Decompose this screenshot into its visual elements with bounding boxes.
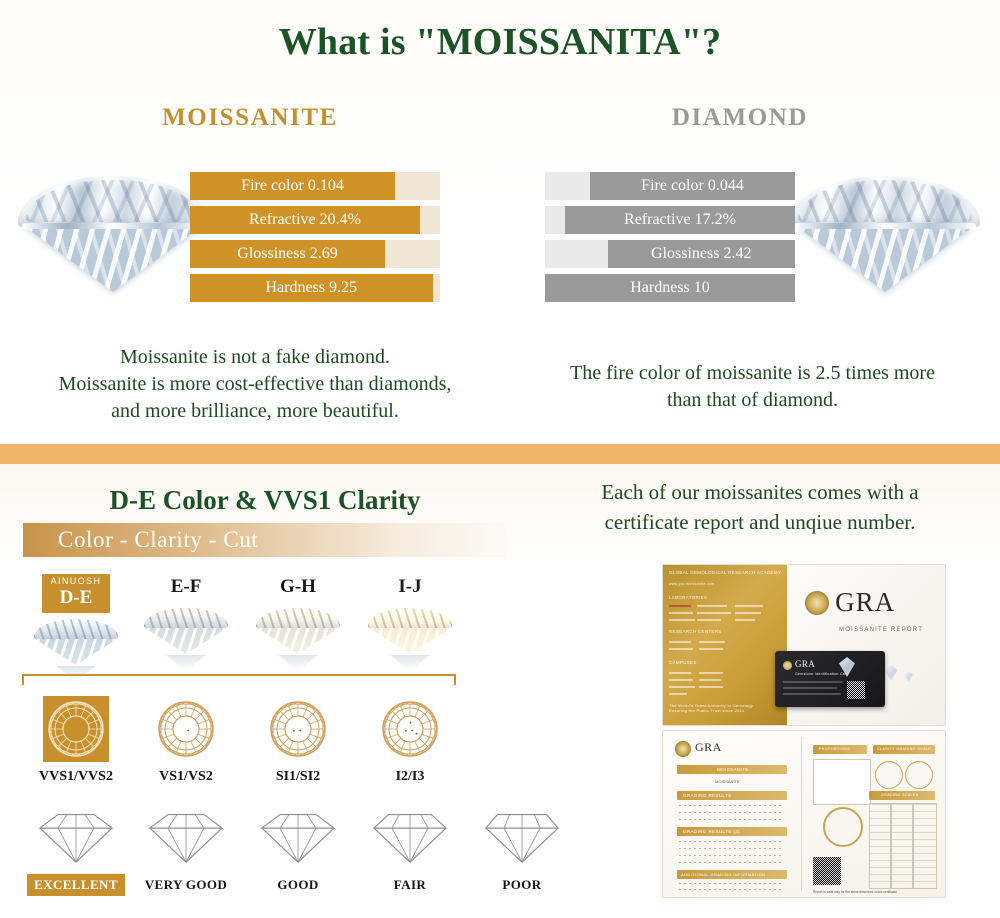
diamond-column-heading: DIAMOND xyxy=(530,104,950,132)
report-subtitle: MOISSANITE xyxy=(715,779,740,784)
grade-bar: Color - Clarity - Cut xyxy=(23,523,507,557)
report-data-row xyxy=(679,841,783,842)
certificate-entry-line xyxy=(699,672,723,674)
page-title: What is "MOISSANITA"? xyxy=(0,20,1000,64)
color-grade-cell[interactable]: E-F xyxy=(130,574,242,671)
color-grade-row: AINUOSHD-EE-FG-HI-J xyxy=(20,574,470,676)
moissanite-caption: Moissanite is not a fake diamond.Moissan… xyxy=(0,344,510,425)
comparison-section: What is "MOISSANITA"? MOISSANITE DIAMOND… xyxy=(0,0,1000,444)
diamond-icon xyxy=(256,608,340,654)
clarity-diagram-circle xyxy=(875,761,903,789)
report-data-row xyxy=(679,812,783,813)
property-bar-track: Refractive 20.4% xyxy=(190,206,440,234)
property-bar-track: Fire color 0.044 xyxy=(545,172,795,200)
color-grade-label: G-H xyxy=(280,576,316,598)
diamond-reflection xyxy=(379,655,441,671)
report-data-row xyxy=(679,805,783,806)
qr-code xyxy=(813,857,841,885)
color-scale-baseline xyxy=(22,674,456,685)
color-grade-tag: AINUOSHD-E xyxy=(42,574,111,613)
property-bar-fill: Refractive 17.2% xyxy=(565,206,795,234)
certificate-footer: The World's Great Authority in GemologyE… xyxy=(669,703,753,713)
color-grade-tag: E-F xyxy=(162,574,211,602)
cut-grade-label: FAIR xyxy=(387,874,433,896)
cut-grade-label: POOR xyxy=(495,874,548,896)
report-section-band: GRADING RESULTS xyxy=(677,791,787,800)
gra-logo: GRA xyxy=(835,587,895,618)
color-grade-cell[interactable]: AINUOSHD-E xyxy=(20,574,132,682)
certificate-website-line: www.gra-moissanite.com xyxy=(669,582,715,586)
certificate-entry-line xyxy=(669,686,695,688)
moissanite-property-bars: Fire color 0.104Refractive 20.4%Glossine… xyxy=(190,172,440,304)
grading-title: D-E Color & VVS1 Clarity xyxy=(25,485,505,516)
clarity-diamond-icon xyxy=(43,696,109,762)
grading-scale-table xyxy=(869,803,891,889)
certificate-entry-line xyxy=(669,641,691,643)
cut-diamond-icon xyxy=(20,809,132,870)
card-line xyxy=(783,681,843,683)
certificate-entry-line xyxy=(697,605,727,607)
gem-illustration xyxy=(903,671,914,682)
gra-certificate-cover-image: GLOBAL GEMOLOGICAL RESEARCH ACADEMY www.… xyxy=(662,564,946,726)
report-data-row xyxy=(679,819,783,820)
certificate-caption: Each of our moissanites comes with acert… xyxy=(530,477,990,537)
clarity-diamond-icon xyxy=(377,696,443,762)
property-bar-track: Glossiness 2.69 xyxy=(190,240,440,268)
clarity-grade-label: VS1/VS2 xyxy=(130,769,242,785)
qr-code xyxy=(847,681,865,699)
property-bar-fill: Refractive 20.4% xyxy=(190,206,420,234)
diamond-gem-image xyxy=(790,170,980,302)
card-subtitle: Gemstone Identification Card xyxy=(795,672,849,676)
clarity-grade-label: I2/I3 xyxy=(354,769,466,785)
certificate-entry-line xyxy=(735,612,761,614)
report-right-band: PROPORTIONS xyxy=(813,745,867,754)
report-section-band: ADDITIONAL GRADING INFORMATION xyxy=(677,870,787,879)
clarity-grade-cell[interactable]: SI1/SI2 xyxy=(242,696,354,785)
cut-diamond-icon xyxy=(466,809,578,870)
report-data-row xyxy=(679,848,783,849)
diamond-icon xyxy=(368,608,452,654)
cut-grade-cell[interactable]: VERY GOOD xyxy=(130,809,242,896)
property-bar-fill: Glossiness 2.69 xyxy=(190,240,385,268)
certificate-entry-line xyxy=(669,648,693,650)
clarity-grade-row: VVS1/VVS2VS1/VS2SI1/SI2I2/I3 xyxy=(20,696,470,800)
certificate-section-laboratories: LABORATORIES xyxy=(669,595,707,600)
cut-grade-label: GOOD xyxy=(270,874,325,896)
gem-illustration xyxy=(883,665,899,681)
certificate-section-research: RESEARCH CENTERS xyxy=(669,629,722,634)
gra-id-card: GRA Gemstone Identification Card xyxy=(775,651,885,707)
gra-seal-icon xyxy=(805,591,829,615)
property-bar-fill: Fire color 0.044 xyxy=(590,172,795,200)
color-grade-cell[interactable]: G-H xyxy=(242,574,354,671)
section-divider xyxy=(0,444,1000,464)
certificate-entry-line xyxy=(669,605,691,607)
property-bar-track: Refractive 17.2% xyxy=(545,206,795,234)
report-data-row xyxy=(679,889,783,890)
report-footer: Report is valid only for the stone descr… xyxy=(813,890,897,894)
clarity-grade-cell[interactable]: VVS1/VVS2 xyxy=(20,696,132,785)
grade-bar-label: Color - Clarity - Cut xyxy=(23,527,258,553)
cut-grade-label: EXCELLENT xyxy=(27,874,125,896)
report-title-label: MOISSANITE xyxy=(717,765,749,774)
card-gra-logo: GRA xyxy=(795,659,815,669)
report-right-band: CLARITY GRADING SCALE xyxy=(873,745,935,754)
certificate-entry-line xyxy=(669,619,695,621)
property-bar-fill: Hardness 9.25 xyxy=(190,274,433,302)
property-bar-track: Hardness 9.25 xyxy=(190,274,440,302)
cut-grade-label: VERY GOOD xyxy=(138,874,234,896)
brand-label: AINUOSH xyxy=(51,576,102,587)
diamond-icon xyxy=(144,608,228,654)
card-line xyxy=(783,687,837,689)
report-section-label: ADDITIONAL GRADING INFORMATION xyxy=(681,870,765,879)
grading-section: D-E Color & VVS1 Clarity Color - Clarity… xyxy=(0,464,1000,918)
clarity-grade-label: SI1/SI2 xyxy=(242,769,354,785)
certificate-section-campuses: CAMPUSES xyxy=(669,660,697,665)
cut-grade-cell[interactable]: GOOD xyxy=(242,809,354,896)
gem-girdle xyxy=(22,223,204,229)
cut-grade-cell[interactable]: FAIR xyxy=(354,809,466,896)
clarity-grade-label: VVS1/VVS2 xyxy=(20,769,132,785)
property-bar-fill: Glossiness 2.42 xyxy=(608,240,796,268)
grading-scale-table xyxy=(913,803,937,889)
report-right-label: PROPORTIONS xyxy=(819,745,850,754)
color-grade-label: D-E xyxy=(51,587,102,609)
property-bar-fill: Hardness 10 xyxy=(545,274,795,302)
cut-grade-cell[interactable]: EXCELLENT xyxy=(20,809,132,896)
moissanite-report-label: MOISSANITE REPORT xyxy=(839,627,923,633)
certificate-academy-line: GLOBAL GEMOLOGICAL RESEARCH ACADEMY xyxy=(669,570,781,575)
certificate-entry-line xyxy=(699,679,721,681)
cut-diamond-icon xyxy=(354,809,466,870)
cut-grade-cell[interactable]: POOR xyxy=(466,809,578,896)
report-center-divider xyxy=(801,737,802,891)
certificate-entry-line xyxy=(699,641,725,643)
certificate-entry-line xyxy=(735,619,755,621)
report-gra-logo: GRA xyxy=(695,740,722,755)
certificate-entry-line xyxy=(669,679,693,681)
diamond-caption: The fire color of moissanite is 2.5 time… xyxy=(505,360,1000,414)
proportions-diagram xyxy=(813,759,871,805)
certificate-gold-panel: GLOBAL GEMOLOGICAL RESEARCH ACADEMY www.… xyxy=(663,565,787,725)
card-line xyxy=(783,693,841,695)
report-data-row xyxy=(679,855,783,856)
gra-certificate-report-image: GRA MOISSANITE MOISSANITE GRADING RESULT… xyxy=(662,730,946,898)
gem-plot-circle xyxy=(823,807,863,847)
report-section-band: GRADING RESULTS (2) xyxy=(677,827,787,836)
card-seal-icon xyxy=(783,661,792,670)
cut-diamond-icon xyxy=(242,809,354,870)
clarity-diagram-circle xyxy=(905,761,933,789)
report-data-row xyxy=(679,862,783,863)
gra-seal-icon xyxy=(675,741,691,757)
certificate-entry-line xyxy=(669,672,691,674)
certificate-entry-line xyxy=(699,648,723,650)
certificate-entry-line xyxy=(699,686,723,688)
clarity-diamond-icon xyxy=(153,696,219,762)
moissanite-gem-image xyxy=(18,170,208,302)
gem-girdle xyxy=(794,223,976,229)
report-right-label: CLARITY GRADING SCALE xyxy=(877,745,931,754)
clarity-diamond-icon xyxy=(265,696,331,762)
report-title-band: MOISSANITE xyxy=(677,765,787,774)
diamond-icon xyxy=(34,619,118,665)
color-grade-tag: I-J xyxy=(389,574,430,602)
certificate-entry-line xyxy=(697,619,721,621)
clarity-grade-cell[interactable]: I2/I3 xyxy=(354,696,466,785)
diamond-reflection xyxy=(155,655,217,671)
property-bar-track: Glossiness 2.42 xyxy=(545,240,795,268)
clarity-grade-cell[interactable]: VS1/VS2 xyxy=(130,696,242,785)
moissanite-column-heading: MOISSANITE xyxy=(40,104,460,132)
report-section-label: GRADING RESULTS xyxy=(683,791,732,800)
cut-grade-row: EXCELLENTVERY GOODGOODFAIRPOOR xyxy=(20,809,590,904)
property-bar-track: Fire color 0.104 xyxy=(190,172,440,200)
property-bar-track: Hardness 10 xyxy=(545,274,795,302)
certificate-entry-line xyxy=(735,605,763,607)
diamond-property-bars: Fire color 0.044Refractive 17.2%Glossine… xyxy=(545,172,795,304)
certificate-entry-line xyxy=(697,612,731,614)
diamond-reflection xyxy=(267,655,329,671)
cut-diamond-icon xyxy=(130,809,242,870)
certificate-entry-line xyxy=(669,612,693,614)
certificate-entry-line xyxy=(669,693,687,695)
property-bar-fill: Fire color 0.104 xyxy=(190,172,395,200)
report-right-label: GRADING SCALES xyxy=(881,791,919,800)
color-grade-cell[interactable]: I-J xyxy=(354,574,466,671)
grading-scale-table xyxy=(891,803,913,889)
color-grade-label: E-F xyxy=(171,576,202,598)
report-data-row xyxy=(679,883,783,884)
color-grade-label: I-J xyxy=(398,576,421,598)
report-section-label: GRADING RESULTS (2) xyxy=(683,827,740,836)
color-grade-tag: G-H xyxy=(271,574,325,602)
report-right-band: GRADING SCALES xyxy=(869,791,935,800)
